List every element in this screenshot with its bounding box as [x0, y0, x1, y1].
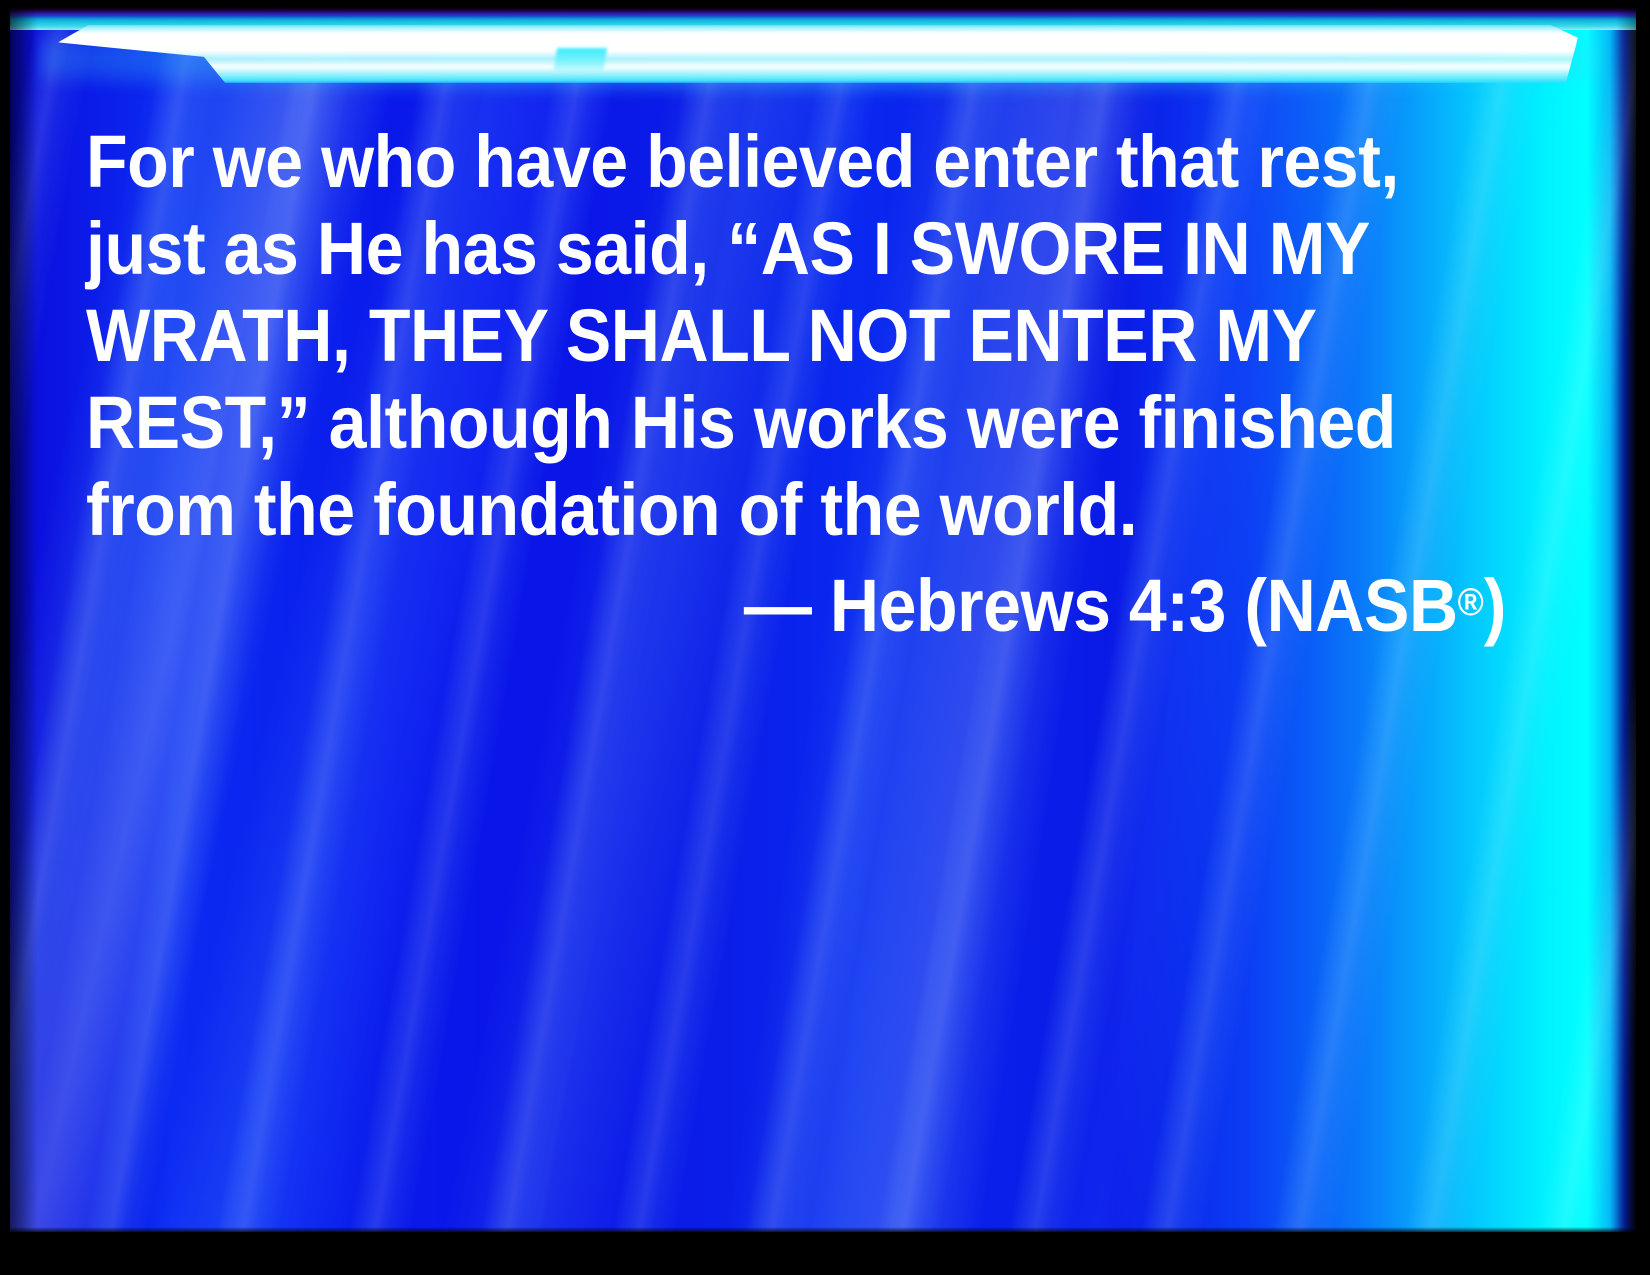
verse-reference: — Hebrews 4:3 (NASB®) — [200, 559, 1506, 649]
verse-line-4: REST,” although His works were finished — [86, 379, 1392, 466]
verse-line-2: just as He has said, “AS I SWORE IN MY — [86, 205, 1392, 292]
verse-line-1: For we who have believed enter that rest… — [86, 118, 1392, 205]
scripture-slide: For we who have believed enter that rest… — [0, 0, 1650, 1275]
registered-trademark-icon: ® — [1458, 581, 1484, 624]
top-banner — [58, 25, 1578, 83]
verse-reference-main: — Hebrews 4:3 (NASB — [744, 564, 1458, 647]
border-right — [1636, 0, 1650, 1275]
verse-reference-tail: ) — [1484, 564, 1506, 647]
border-bottom — [0, 1232, 1650, 1275]
border-left — [0, 0, 10, 1275]
verse-line-3: WRATH, THEY SHALL NOT ENTER MY — [86, 292, 1392, 379]
verse-line-5: from the foundation of the world. — [86, 466, 1392, 553]
verse-text-block: For we who have believed enter that rest… — [86, 118, 1506, 649]
